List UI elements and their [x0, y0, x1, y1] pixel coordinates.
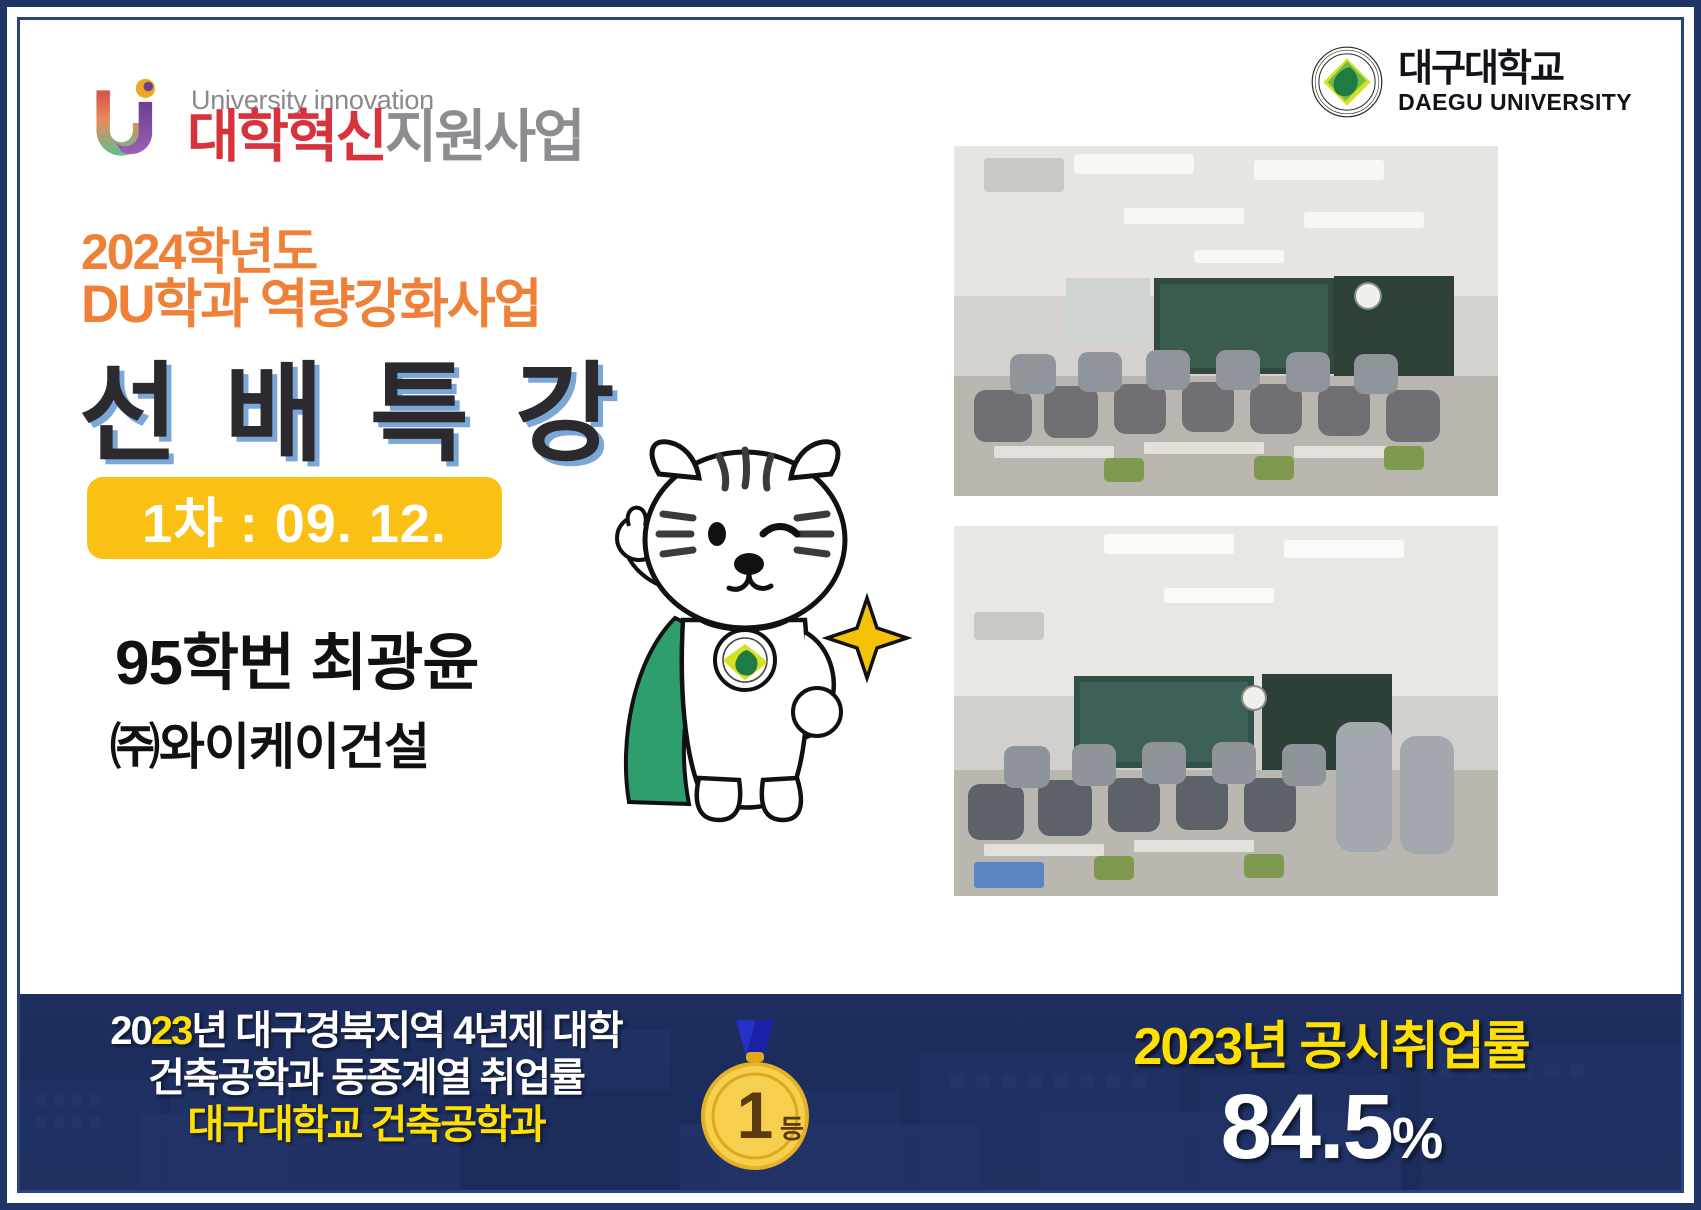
- bottom-banner: 2023년 대구경북지역 4년제 대학 건축공학과 동종계열 취업률 대구대학교…: [20, 994, 1681, 1190]
- gold-medal-icon: 1 등: [680, 1016, 830, 1176]
- ui-innovation-mark-icon: [83, 75, 179, 171]
- daegu-university-name-en: DAEGU UNIVERSITY: [1398, 90, 1632, 114]
- date-badge: 1차 : 09. 12.: [87, 477, 502, 559]
- daegu-university-name-ko: 대구대학교: [1398, 50, 1563, 90]
- banner-left-line-3: 대구대학교 건축공학과: [66, 1102, 666, 1149]
- poster-root: University innovation 대학혁신지원사업 대구대학교 DAE…: [0, 0, 1701, 1210]
- employment-rate-unit: %: [1392, 1106, 1442, 1171]
- lecture-hall-photo-2: [954, 526, 1498, 896]
- lecture-hall-photo-2-content: [954, 526, 1498, 896]
- medal-rank-number: 1: [737, 1078, 774, 1152]
- daegu-university-emblem-icon: [1310, 45, 1384, 119]
- lecture-hall-photo-1: [954, 146, 1498, 496]
- page-title: 선 배 특 강: [79, 327, 622, 483]
- daegu-university-logo: 대구대학교 DAEGU UNIVERSITY: [1310, 41, 1632, 123]
- banner-left-line-2: 건축공학과 동종계열 취업률: [66, 1055, 666, 1102]
- employment-rate-label: 2023년 공시취업률: [1021, 1004, 1641, 1079]
- ui-logo-name: 대학혁신지원사업: [187, 109, 583, 166]
- speaker-name: 95학번 최광윤: [115, 612, 478, 702]
- ui-logo-name-gray: 지원사업: [385, 105, 583, 169]
- banner-line-1-suffix: 년 대구경북지역 4년제 대학: [191, 1009, 621, 1053]
- employment-rate-value: 84.5%: [1021, 1081, 1641, 1173]
- employment-rate-number: 84.5: [1221, 1076, 1392, 1178]
- date-badge-label: 1차 : 09. 12.: [142, 479, 447, 558]
- lecture-hall-photo-1-content: [954, 146, 1498, 496]
- daegu-university-names: 대구대학교 DAEGU UNIVERSITY: [1398, 50, 1632, 114]
- speaker-company: ㈜와이케이건설: [110, 707, 429, 779]
- medal-rank-suffix: 등: [780, 1114, 804, 1144]
- banner-year-prefix: 20: [110, 1009, 151, 1053]
- banner-year-highlight: 23: [151, 1009, 192, 1053]
- banner-left-text: 2023년 대구경북지역 4년제 대학 건축공학과 동종계열 취업률 대구대학교…: [66, 1008, 666, 1148]
- first-place-medal: 1 등: [680, 1016, 830, 1176]
- university-innovation-logo: University innovation 대학혁신지원사업: [83, 65, 553, 175]
- tiger-mascot-icon: [567, 422, 927, 842]
- ui-logo-name-red: 대학혁신: [187, 105, 385, 169]
- employment-rate-block: 2023년 공시취업률 84.5%: [1021, 1004, 1641, 1173]
- banner-left-line-1: 2023년 대구경북지역 4년제 대학: [66, 1008, 666, 1055]
